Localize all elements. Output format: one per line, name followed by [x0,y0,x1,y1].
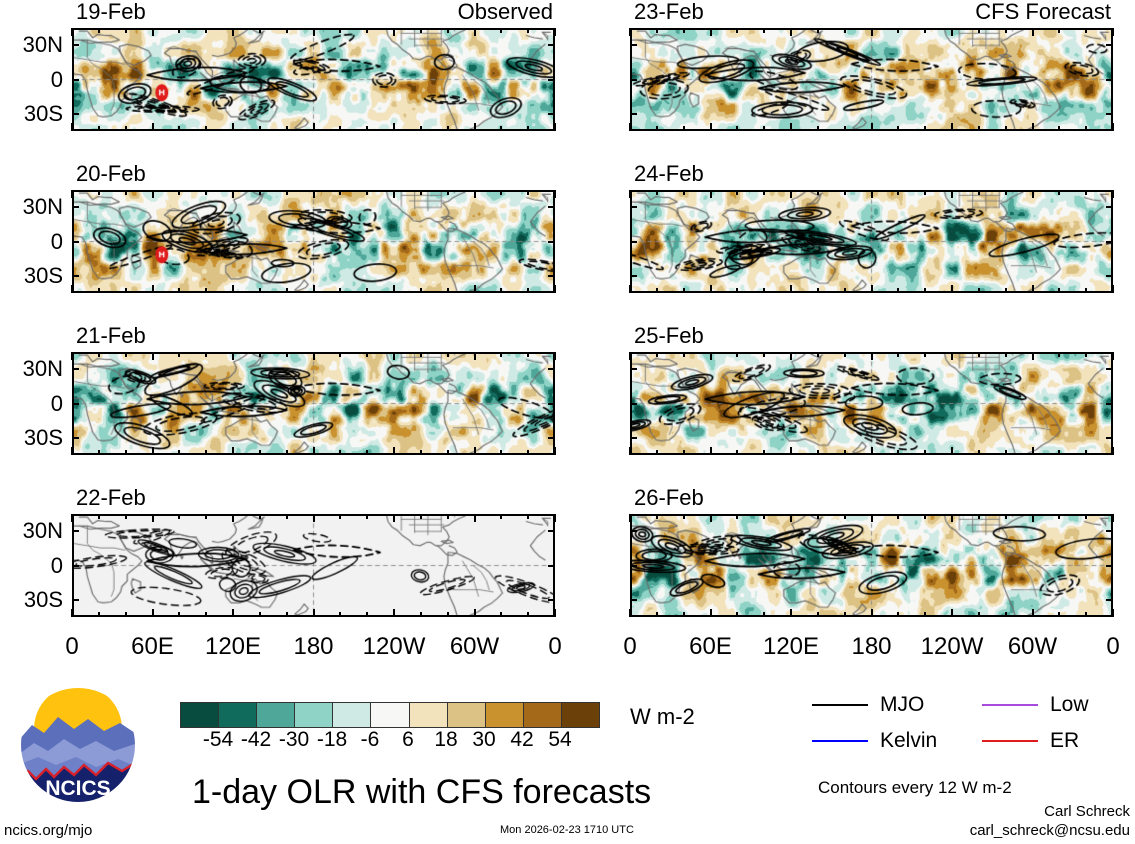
x-tick-mark [817,352,819,357]
colorbar-segment [257,703,295,727]
x-tick-mark [1058,190,1060,195]
x-tick-mark [710,285,712,293]
x-tick-mark [232,514,234,522]
y-tick-mark [72,206,79,208]
x-tick-mark [763,28,765,33]
generated-timestamp: Mon 2026-02-23 1710 UTC [500,825,634,836]
x-tick-mark [259,126,261,131]
legend-label: MJO [880,694,924,715]
x-tick-mark [1032,123,1034,131]
x-tick-mark [871,609,873,617]
x-tick-mark [656,28,658,33]
x-tick-mark [71,514,73,522]
y-axis-label: 0 [51,393,63,415]
x-tick-mark [259,450,261,455]
y-tick-mark [72,44,79,46]
x-tick-mark [366,352,368,357]
x-tick-mark [656,450,658,455]
x-tick-mark [951,123,953,131]
y-tick-mark [630,530,637,532]
x-tick-mark [420,450,422,455]
x-tick-mark [500,288,502,293]
x-tick-mark [313,123,315,131]
x-tick-mark [1085,352,1087,357]
y-axis-label: 0 [51,231,63,253]
x-tick-mark [125,28,127,33]
wave-type-legend: MJOKelvinLowER [812,694,1132,764]
colorbar-units-label: W m-2 [630,706,695,728]
x-tick-mark [98,28,100,33]
x-tick-mark [393,609,395,617]
legend-item-kelvin: Kelvin [812,730,937,751]
x-tick-mark [897,514,899,519]
x-tick-mark [313,514,315,522]
x-tick-mark [178,612,180,617]
map-panel-26-feb: 26-Feb [630,514,1113,617]
x-tick-mark [554,447,556,455]
y-tick-mark [548,206,555,208]
x-axis-label: 120E [763,635,819,659]
x-tick-mark [683,450,685,455]
x-tick-mark [897,28,899,33]
ncics-logo: NCICS [18,685,138,805]
y-tick-mark [630,79,637,81]
x-tick-mark [554,123,556,131]
x-tick-mark [924,28,926,33]
y-tick-mark [1106,437,1113,439]
x-tick-mark [447,126,449,131]
olr-anomaly-map [632,192,1111,291]
x-tick-mark [710,514,712,522]
x-tick-mark [366,126,368,131]
x-tick-mark [1085,126,1087,131]
x-tick-mark [125,352,127,357]
x-tick-mark [629,447,631,455]
x-tick-mark [871,190,873,198]
colorbar-tick-label: 18 [434,729,457,750]
x-tick-mark [656,514,658,519]
x-tick-mark [152,514,154,522]
x-tick-mark [500,514,502,519]
x-tick-mark [366,450,368,455]
x-axis-label: 0 [623,635,636,659]
x-tick-mark [871,28,873,36]
x-tick-mark [844,514,846,519]
x-tick-mark [683,190,685,195]
y-tick-mark [548,403,555,405]
x-tick-mark [871,123,873,131]
colorbar-segment [524,703,562,727]
x-tick-mark [98,352,100,357]
x-tick-mark [286,514,288,519]
x-tick-mark [339,190,341,195]
x-tick-mark [629,514,631,522]
x-tick-mark [71,28,73,36]
y-tick-mark [1106,403,1113,405]
column-header-observed: Observed [458,1,553,23]
y-tick-mark [1106,241,1113,243]
x-tick-mark [286,126,288,131]
x-tick-mark [474,447,476,455]
y-tick-mark [548,437,555,439]
colorbar-segment [562,703,599,727]
panel-date-label: 22-Feb [76,487,146,509]
colorbar-segment [219,703,257,727]
x-tick-mark [656,612,658,617]
map-frame [630,190,1113,293]
x-tick-mark [286,288,288,293]
panel-date-label: 26-Feb [634,487,704,509]
y-axis-label: 0 [51,69,63,91]
x-tick-mark [683,612,685,617]
panel-date-label: 23-Feb [634,1,704,23]
x-tick-mark [152,190,154,198]
x-tick-mark [1032,190,1034,198]
y-tick-mark [1106,113,1113,115]
x-tick-mark [1085,514,1087,519]
x-tick-mark [447,288,449,293]
x-tick-mark [978,612,980,617]
x-tick-mark [474,190,476,198]
x-tick-mark [1085,450,1087,455]
x-tick-mark [1005,190,1007,195]
x-tick-mark [763,126,765,131]
x-tick-mark [178,352,180,357]
x-tick-mark [1058,352,1060,357]
map-panel-22-feb: 22-Feb30N030S [72,514,555,617]
x-tick-mark [339,514,341,519]
x-tick-mark [629,352,631,360]
colorbar-segment [333,703,371,727]
colorbar-segment [448,703,486,727]
x-tick-mark [951,285,953,293]
colorbar-tick-label: 42 [510,729,533,750]
x-tick-mark [178,450,180,455]
x-tick-mark [527,450,529,455]
x-tick-mark [1085,612,1087,617]
x-tick-mark [71,352,73,360]
map-frame [72,28,555,131]
x-tick-mark [763,190,765,195]
x-tick-mark [178,514,180,519]
x-tick-mark [474,352,476,360]
legend-label: ER [1050,730,1079,751]
colorbar-tick-label: -30 [279,729,309,750]
x-tick-mark [474,609,476,617]
x-tick-mark [366,190,368,195]
x-tick-mark [152,352,154,360]
x-tick-mark [817,28,819,33]
x-tick-mark [1058,514,1060,519]
x-tick-mark [1005,126,1007,131]
contour-interval-note: Contours every 12 W m-2 [818,779,1012,796]
x-tick-mark [527,352,529,357]
olr-anomaly-map [74,30,553,129]
y-tick-mark [548,113,555,115]
x-tick-mark [259,514,261,519]
map-panel-23-feb: 23-FebCFS Forecast [630,28,1113,131]
x-tick-mark [286,450,288,455]
x-axis-label: 60W [450,635,499,659]
map-frame [630,28,1113,131]
x-tick-mark [897,352,899,357]
colorbar-tick-label: -42 [241,729,271,750]
colorbar-tick-label: -54 [203,729,233,750]
x-tick-mark [897,126,899,131]
x-tick-mark [259,288,261,293]
x-tick-mark [790,609,792,617]
legend-line-swatch [812,740,868,742]
x-tick-mark [71,447,73,455]
x-tick-mark [554,352,556,360]
x-tick-mark [656,190,658,195]
x-tick-mark [205,450,207,455]
x-tick-mark [736,450,738,455]
legend-label: Low [1050,694,1089,715]
x-tick-mark [736,612,738,617]
x-tick-mark [817,450,819,455]
y-tick-mark [548,599,555,601]
x-tick-mark [1058,288,1060,293]
author-name: Carl Schreck [940,804,1130,819]
x-axis-label: 60W [1008,635,1057,659]
x-tick-mark [1058,28,1060,33]
x-tick-mark [710,447,712,455]
x-tick-mark [790,123,792,131]
x-tick-mark [951,352,953,360]
x-tick-mark [313,190,315,198]
x-tick-mark [152,447,154,455]
x-tick-mark [1085,288,1087,293]
y-tick-mark [72,79,79,81]
x-tick-mark [629,28,631,36]
olr-anomaly-map [74,516,553,615]
x-tick-mark [500,28,502,33]
x-tick-mark [286,612,288,617]
x-tick-mark [1005,288,1007,293]
x-tick-mark [447,190,449,195]
x-axis-label: 0 [548,635,561,659]
x-tick-mark [500,190,502,195]
x-tick-mark [339,352,341,357]
y-axis-label: 30N [23,520,63,542]
x-tick-mark [817,514,819,519]
x-tick-mark [1005,612,1007,617]
legend-item-low: Low [982,694,1089,715]
olr-mjo-figure: 19-FebObserved30N030S20-Feb30N030S21-Feb… [0,0,1135,844]
x-tick-mark [790,190,792,198]
x-tick-mark [313,28,315,36]
x-tick-mark [205,352,207,357]
x-tick-mark [736,28,738,33]
x-tick-mark [844,450,846,455]
x-tick-mark [205,28,207,33]
x-tick-mark [554,514,556,522]
x-tick-mark [763,612,765,617]
x-axis-label: 0 [1106,635,1119,659]
x-tick-mark [629,609,631,617]
y-tick-mark [72,403,79,405]
x-tick-mark [710,28,712,36]
x-tick-mark [1112,190,1114,198]
x-tick-mark [554,609,556,617]
x-tick-mark [393,285,395,293]
colorbar-tick-label: 30 [472,729,495,750]
x-tick-mark [474,285,476,293]
x-tick-mark [98,126,100,131]
x-tick-mark [178,28,180,33]
x-tick-mark [924,514,926,519]
x-tick-mark [152,609,154,617]
x-tick-mark [232,28,234,36]
x-tick-mark [1112,28,1114,36]
x-tick-mark [736,190,738,195]
y-tick-mark [72,275,79,277]
x-tick-mark [897,288,899,293]
y-tick-mark [630,565,637,567]
x-tick-mark [924,612,926,617]
y-tick-mark [72,368,79,370]
y-tick-mark [1106,368,1113,370]
panel-date-label: 21-Feb [76,325,146,347]
x-tick-mark [924,288,926,293]
x-tick-mark [897,190,899,195]
x-tick-mark [871,352,873,360]
x-tick-mark [1032,447,1034,455]
x-tick-mark [978,126,980,131]
x-tick-mark [1005,450,1007,455]
map-panel-24-feb: 24-Feb [630,190,1113,293]
x-tick-mark [951,447,953,455]
x-tick-mark [178,288,180,293]
x-tick-mark [286,28,288,33]
x-tick-mark [656,126,658,131]
x-axis-label: 120W [363,635,426,659]
x-tick-mark [286,352,288,357]
x-tick-mark [924,352,926,357]
x-tick-mark [71,123,73,131]
x-tick-mark [232,352,234,360]
x-tick-mark [629,190,631,198]
x-tick-mark [259,190,261,195]
x-tick-mark [420,288,422,293]
colorbar: -54-42-30-18-6618304254 W m-2 [180,702,598,762]
y-tick-mark [1106,79,1113,81]
x-tick-mark [736,126,738,131]
legend-label: Kelvin [880,730,937,751]
x-tick-mark [420,352,422,357]
x-tick-mark [554,190,556,198]
legend-item-mjo: MJO [812,694,924,715]
x-tick-mark [1112,514,1114,522]
x-tick-mark [98,514,100,519]
x-tick-mark [527,190,529,195]
y-tick-mark [548,530,555,532]
x-tick-mark [447,514,449,519]
x-tick-mark [232,447,234,455]
x-tick-mark [420,514,422,519]
x-tick-mark [897,612,899,617]
x-tick-mark [339,450,341,455]
colorbar-tick-label: 54 [548,729,571,750]
y-tick-mark [548,44,555,46]
x-tick-mark [1085,28,1087,33]
x-tick-mark [710,352,712,360]
x-tick-mark [871,285,873,293]
y-axis-label: 30S [24,103,63,125]
x-axis-right-column: 060E120E180120W60W0 [630,635,1113,665]
x-tick-mark [205,288,207,293]
x-tick-mark [924,190,926,195]
x-tick-mark [683,288,685,293]
x-tick-mark [232,123,234,131]
x-tick-mark [447,352,449,357]
x-tick-mark [152,28,154,36]
column-header-forecast: CFS Forecast [975,1,1111,23]
x-tick-mark [125,450,127,455]
x-tick-mark [817,190,819,195]
x-tick-mark [125,288,127,293]
x-tick-mark [205,126,207,131]
x-tick-mark [152,285,154,293]
y-axis-label: 30N [23,196,63,218]
x-tick-mark [313,609,315,617]
x-tick-mark [125,190,127,195]
x-tick-mark [232,609,234,617]
y-axis-label: 30N [23,358,63,380]
legend-line-swatch [812,704,868,706]
panel-date-label: 20-Feb [76,163,146,185]
x-tick-mark [978,288,980,293]
x-tick-mark [339,126,341,131]
x-tick-mark [924,450,926,455]
y-tick-mark [548,275,555,277]
x-tick-mark [1085,190,1087,195]
x-tick-mark [1112,285,1114,293]
map-frame [72,190,555,293]
x-tick-mark [683,126,685,131]
x-tick-mark [978,190,980,195]
x-tick-mark [736,514,738,519]
x-tick-mark [1058,126,1060,131]
x-tick-mark [366,28,368,33]
y-tick-mark [630,113,637,115]
map-frame [630,352,1113,455]
x-tick-mark [98,288,100,293]
x-tick-mark [125,612,127,617]
panel-date-label: 25-Feb [634,325,704,347]
y-tick-mark [548,241,555,243]
y-tick-mark [630,599,637,601]
x-tick-mark [205,612,207,617]
map-panel-19-feb: 19-FebObserved30N030S [72,28,555,131]
y-tick-mark [1106,565,1113,567]
x-tick-mark [978,352,980,357]
x-tick-mark [817,288,819,293]
x-axis-label: 60E [131,635,174,659]
x-tick-mark [897,450,899,455]
map-panel-20-feb: 20-Feb30N030S [72,190,555,293]
x-tick-mark [393,190,395,198]
x-tick-mark [656,288,658,293]
x-tick-mark [474,514,476,522]
x-tick-mark [844,612,846,617]
x-tick-mark [500,352,502,357]
panel-date-label: 19-Feb [76,1,146,23]
x-tick-mark [1005,28,1007,33]
x-tick-mark [1112,447,1114,455]
x-tick-mark [736,352,738,357]
